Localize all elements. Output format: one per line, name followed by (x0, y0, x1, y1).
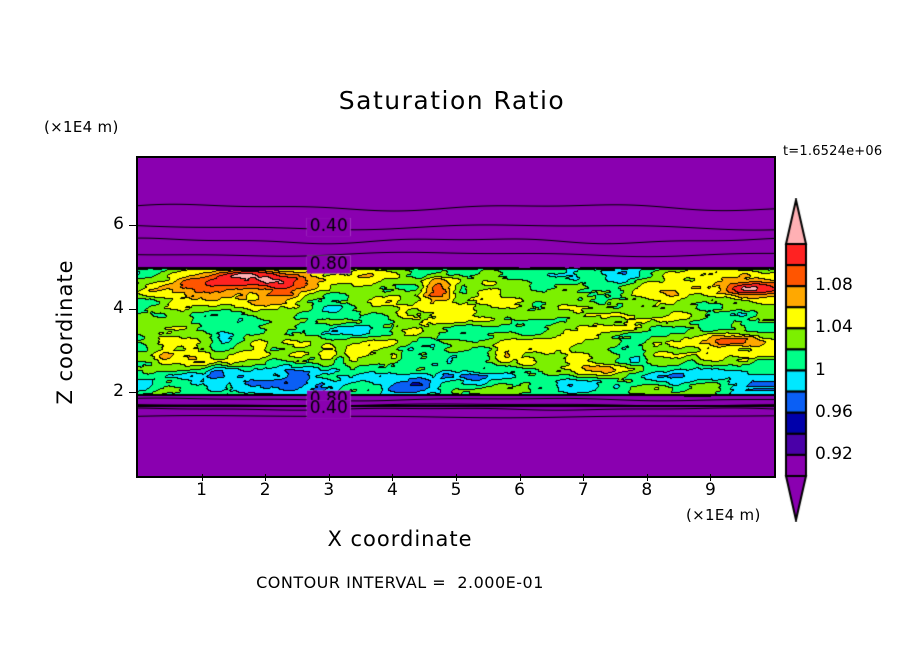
y-tick-mark (129, 309, 136, 310)
colorbar-gradient (784, 198, 808, 522)
x-tick-label: 2 (250, 480, 280, 500)
x-tick-label: 4 (377, 480, 407, 500)
x-tick-label: 7 (568, 480, 598, 500)
x-tick-label: 9 (695, 480, 725, 500)
colorbar-tick-label: 0.96 (815, 402, 853, 422)
x-tick-label: 8 (632, 480, 662, 500)
colorbar (784, 198, 808, 522)
y-tick-label: 6 (96, 214, 124, 234)
figure-root: Saturation Ratio (×1E4 m) t=1.6524e+06 Z… (0, 0, 904, 654)
colorbar-tick-label: 0.92 (815, 444, 853, 464)
page-title: Saturation Ratio (0, 86, 904, 115)
colorbar-tick-label: 1 (815, 360, 826, 380)
x-axis-unit-label: (×1E4 m) (686, 506, 761, 524)
y-axis-title: Z coordinate (53, 232, 77, 432)
saturation-ratio-field (138, 158, 774, 476)
colorbar-tick-label: 1.04 (815, 317, 853, 337)
contour-interval-note: CONTOUR INTERVAL = 2.000E-01 (0, 573, 800, 592)
plot-area (136, 156, 776, 478)
time-stamp-label: t=1.6524e+06 (783, 144, 882, 159)
x-tick-label: 6 (505, 480, 535, 500)
x-tick-label: 5 (441, 480, 471, 500)
y-tick-label: 4 (96, 298, 124, 318)
colorbar-tick-label: 1.08 (815, 275, 853, 295)
x-tick-label: 1 (187, 480, 217, 500)
y-tick-mark (129, 392, 136, 393)
y-tick-label: 2 (96, 381, 124, 401)
y-tick-mark (129, 225, 136, 226)
x-axis-title: X coordinate (0, 527, 800, 551)
x-tick-label: 3 (314, 480, 344, 500)
y-axis-unit-label: (×1E4 m) (44, 118, 119, 136)
